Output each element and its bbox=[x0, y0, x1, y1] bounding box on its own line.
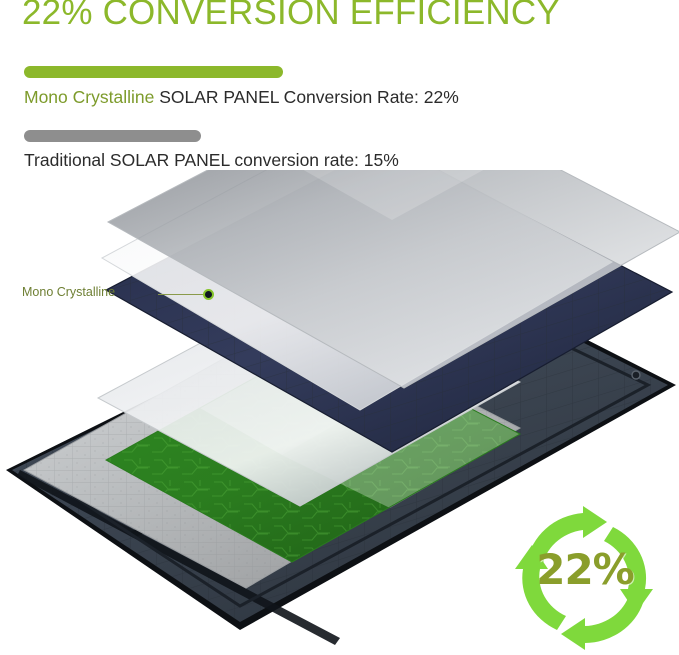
legend-accent-mono: Mono Crystalline bbox=[24, 87, 154, 107]
callout-leader-line bbox=[158, 294, 206, 295]
callout-label: Mono Crystalline bbox=[22, 285, 115, 299]
infographic-canvas: 22% CONVERSION EFFICIENCY Mono Crystalli… bbox=[0, 0, 679, 655]
callout-marker-icon bbox=[203, 289, 214, 300]
efficiency-bar-traditional bbox=[24, 130, 201, 142]
badge-value: 22% bbox=[505, 545, 665, 594]
efficiency-badge: 22% bbox=[505, 505, 665, 650]
legend-label-mono: Mono Crystalline SOLAR PANEL Conversion … bbox=[24, 86, 459, 108]
legend-rest-mono: SOLAR PANEL Conversion Rate: 22% bbox=[154, 87, 458, 107]
efficiency-bar-mono bbox=[24, 66, 283, 78]
legend-label-traditional: Traditional SOLAR PANEL conversion rate:… bbox=[24, 149, 399, 171]
page-title: 22% CONVERSION EFFICIENCY bbox=[22, 0, 560, 34]
